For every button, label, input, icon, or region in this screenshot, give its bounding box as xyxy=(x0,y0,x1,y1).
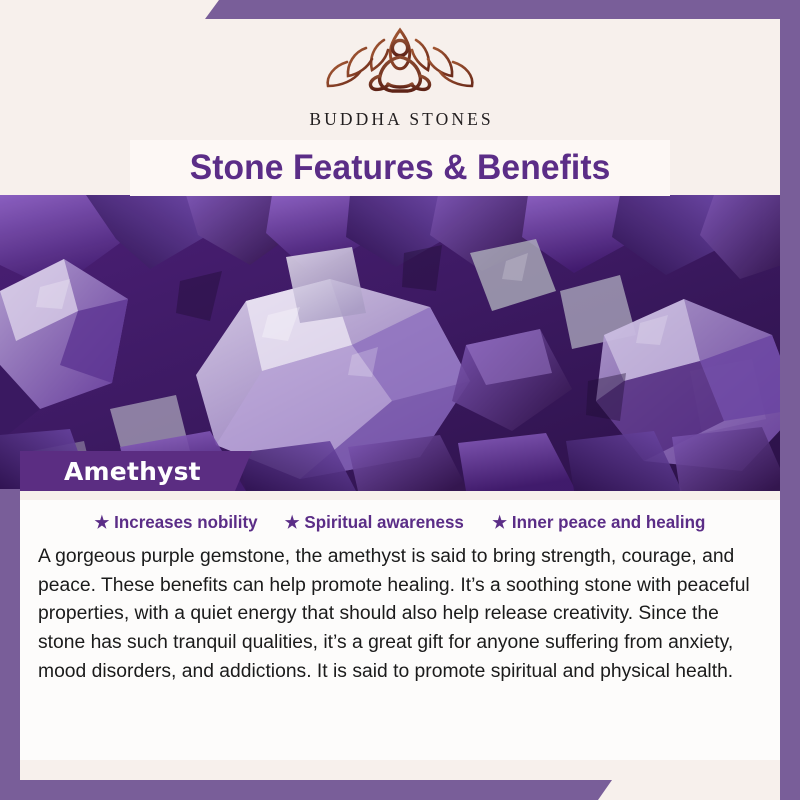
star-icon: ★ xyxy=(285,514,300,531)
title-banner: Stone Features & Benefits xyxy=(130,140,670,196)
lotus-meditation-icon xyxy=(314,18,486,102)
frame-band-left xyxy=(0,489,20,800)
benefit-item: ★ Inner peace and healing xyxy=(492,512,705,533)
stone-description: A gorgeous purple gemstone, the amethyst… xyxy=(38,542,751,686)
benefit-item: ★ Spiritual awareness xyxy=(285,512,464,533)
infographic-page: BUDDHA STONES xyxy=(0,0,800,800)
benefit-label: Spiritual awareness xyxy=(304,512,463,533)
benefit-item: ★ Increases nobility xyxy=(94,512,257,533)
benefit-label: Inner peace and healing xyxy=(511,512,704,533)
benefits-list: ★ Increases nobility ★ Spiritual awarene… xyxy=(20,500,780,533)
brand-wordmark: BUDDHA STONES xyxy=(306,109,493,130)
amethyst-crystal-illustration xyxy=(0,195,800,491)
stone-name-label: Amethyst xyxy=(20,451,252,491)
content-panel: ★ Increases nobility ★ Spiritual awarene… xyxy=(20,500,780,760)
frame-band-right xyxy=(780,0,800,800)
star-icon: ★ xyxy=(492,514,507,531)
star-icon: ★ xyxy=(94,514,109,531)
brand-logo: BUDDHA STONES xyxy=(0,18,800,130)
frame-band-top xyxy=(205,0,800,19)
page-title: Stone Features & Benefits xyxy=(190,148,611,188)
stone-name-text: Amethyst xyxy=(64,457,201,486)
benefit-label: Increases nobility xyxy=(114,512,257,533)
hero-image-amethyst xyxy=(0,195,800,491)
frame-band-bottom xyxy=(0,780,612,800)
